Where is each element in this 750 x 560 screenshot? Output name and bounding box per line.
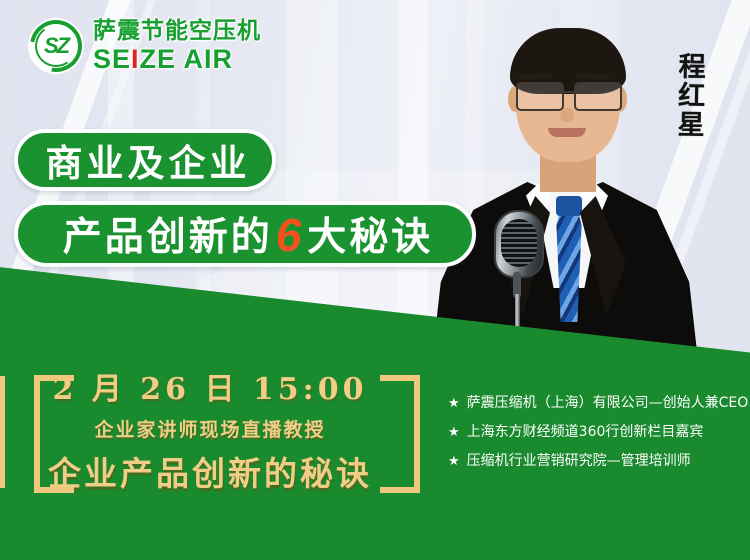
nose — [560, 108, 574, 122]
gold-left-edge-bar — [0, 376, 5, 488]
bracket-right-decoration — [380, 375, 420, 493]
star-icon: ★ — [448, 397, 460, 410]
microphone-head — [494, 210, 544, 278]
glasses-lens-right — [574, 82, 622, 111]
brand-name-en: SEIZE AIR — [93, 46, 261, 73]
headline-line-1: 商业及企业 — [46, 133, 251, 187]
poster-canvas: SZ 萨震节能空压机 SEIZE AIR 商业及企业 产品创新的6大秘诀 程红星… — [0, 0, 750, 560]
credential-text: 上海东方财经频道360行创新栏目嘉宾 — [467, 425, 704, 439]
logo-mark-text: SZ — [44, 33, 68, 59]
brand-name-en-part2: ZE AIR — [140, 44, 234, 74]
star-icon: ★ — [448, 455, 460, 468]
bracket-left-decoration — [34, 375, 74, 493]
headline-line-2-before: 产品创新的 — [63, 206, 273, 262]
brand-logo[interactable]: SZ 萨震节能空压机 SEIZE AIR — [28, 18, 261, 74]
glasses-lens-left — [516, 82, 564, 111]
list-item: ★ 压缩机行业营销研究院—管理培训师 — [448, 454, 748, 468]
mouth — [548, 128, 586, 137]
brand-name-en-part1: SE — [93, 44, 131, 74]
headline-pill-1: 商业及企业 — [14, 129, 276, 191]
headline-line-2-after: 大秘诀 — [307, 206, 433, 262]
brand-logo-text: 萨震节能空压机 SEIZE AIR — [93, 20, 261, 73]
brand-name-cn: 萨震节能空压机 — [93, 20, 261, 43]
list-item: ★ 上海东方财经频道360行创新栏目嘉宾 — [448, 425, 748, 439]
speaker-portrait — [430, 28, 700, 368]
speaker-name-vertical: 程红星 — [669, 52, 707, 140]
sz-circle-logo-icon: SZ — [28, 18, 84, 74]
headline-pill-2: 产品创新的6大秘诀 — [14, 201, 476, 267]
credential-text: 萨震压缩机（上海）有限公司—创始人兼CEO — [467, 396, 749, 410]
credential-text: 压缩机行业营销研究院—管理培训师 — [467, 454, 691, 468]
microphone-grill — [501, 219, 537, 267]
glasses-icon — [514, 82, 622, 107]
tie-knot — [556, 196, 582, 216]
star-icon: ★ — [448, 426, 460, 439]
headline-number-six: 6 — [273, 212, 308, 258]
list-item: ★ 萨震压缩机（上海）有限公司—创始人兼CEO — [448, 396, 748, 410]
speaker-credentials-list: ★ 萨震压缩机（上海）有限公司—创始人兼CEO ★ 上海东方财经频道360行创新… — [448, 396, 748, 483]
brand-name-en-accent: I — [131, 44, 140, 74]
